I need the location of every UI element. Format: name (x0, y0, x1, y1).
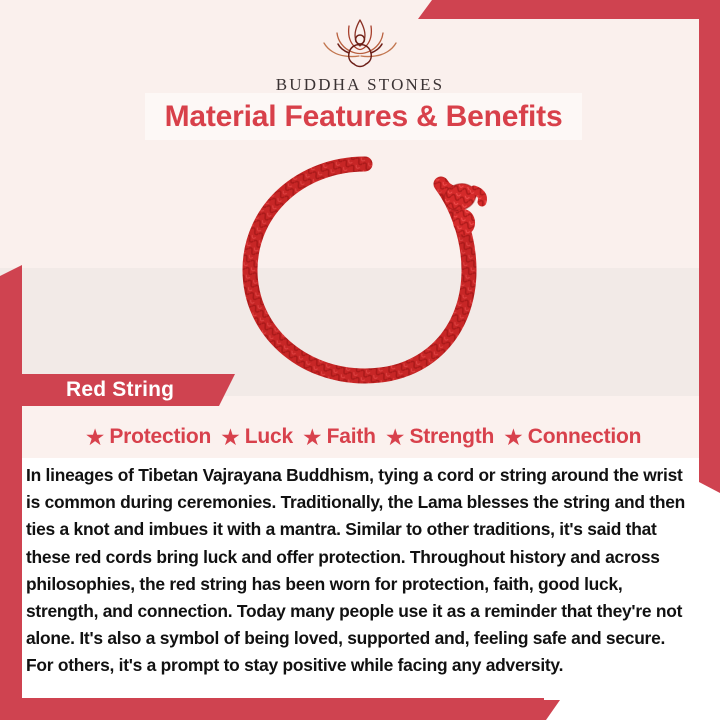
decorative-bar-left (0, 265, 22, 720)
brand-name: BUDDHA STONES (276, 75, 445, 95)
benefit-item-faith: ★ Faith (302, 425, 376, 449)
description-paragraph: In lineages of Tibetan Vajrayana Buddhis… (26, 462, 694, 680)
benefit-item-luck: ★ Luck (220, 425, 293, 449)
red-braided-cord-bracelet (228, 152, 500, 388)
benefit-label: Protection (109, 425, 211, 449)
product-label-band: Red String (22, 374, 235, 406)
benefits-list: ★ Protection ★ Luck ★ Faith ★ Strength ★… (22, 420, 704, 454)
star-icon: ★ (85, 426, 106, 449)
page-title: Material Features & Benefits (165, 100, 563, 134)
star-icon: ★ (302, 426, 323, 449)
benefit-item-strength: ★ Strength (385, 425, 494, 449)
benefit-label: Luck (245, 425, 293, 449)
star-icon: ★ (503, 426, 524, 449)
benefit-label: Connection (528, 425, 642, 449)
brand-logo: BUDDHA STONES (0, 16, 720, 95)
page-title-band: Material Features & Benefits (145, 93, 582, 140)
product-label: Red String (66, 378, 174, 402)
star-icon: ★ (385, 426, 406, 449)
decorative-underline (22, 698, 544, 700)
decorative-bar-bottom (0, 700, 560, 720)
benefit-item-connection: ★ Connection (503, 425, 641, 449)
infographic-poster: BUDDHA STONES Material Features & Benefi… (0, 0, 720, 720)
benefit-label: Faith (327, 425, 376, 449)
benefit-item-protection: ★ Protection (85, 425, 211, 449)
lotus-meditation-icon (306, 16, 414, 72)
benefit-label: Strength (409, 425, 494, 449)
star-icon: ★ (220, 426, 241, 449)
